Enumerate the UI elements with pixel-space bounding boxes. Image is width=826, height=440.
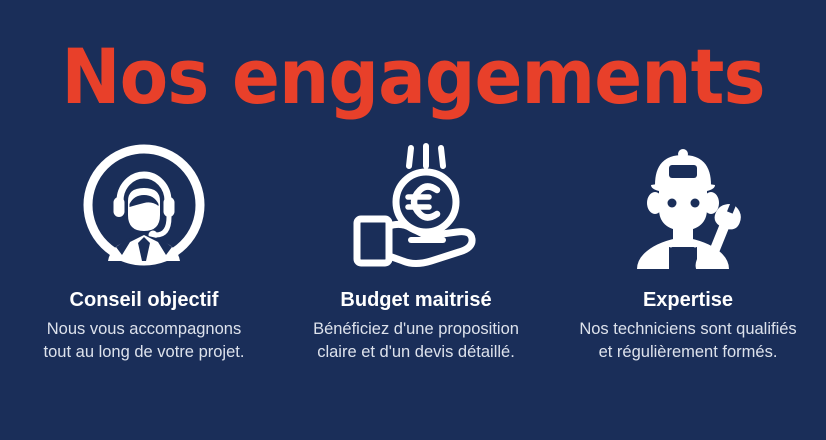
icon-container (349, 140, 483, 270)
support-agent-headset-icon (82, 143, 206, 267)
description-line: Nous vous accompagnons (44, 318, 245, 341)
icon-container (82, 140, 206, 270)
description-line: claire et d'un devis détaillé. (313, 341, 519, 364)
icon-container (625, 140, 751, 270)
technician-with-wrench-icon (625, 141, 751, 269)
description-line: et régulièrement formés. (579, 341, 796, 364)
engagements-column-list: Conseil objectif Nous vous accompagnons … (0, 140, 826, 364)
engagement-description: Nos techniciens sont qualifiés et réguli… (579, 318, 796, 364)
description-line: Bénéficiez d'une proposition (313, 318, 519, 341)
description-line: Nos techniciens sont qualifiés (579, 318, 796, 341)
engagement-item-expertise: Expertise Nos techniciens sont qualifiés… (552, 140, 824, 364)
engagement-description: Bénéficiez d'une proposition claire et d… (313, 318, 519, 364)
engagement-item-conseil-objectif: Conseil objectif Nous vous accompagnons … (8, 140, 280, 364)
engagements-banner: Nos engagements (0, 0, 826, 440)
engagement-heading: Expertise (643, 288, 733, 312)
engagement-heading: Budget maitrisé (340, 288, 491, 312)
page-title: Nos engagements (29, 36, 797, 118)
hand-holding-euro-coin-icon (349, 140, 483, 270)
description-line: tout au long de votre projet. (44, 341, 245, 364)
engagement-heading: Conseil objectif (70, 288, 219, 312)
engagement-item-budget-maitrise: Budget maitrisé Bénéficiez d'une proposi… (280, 140, 552, 364)
engagement-description: Nous vous accompagnons tout au long de v… (44, 318, 245, 364)
